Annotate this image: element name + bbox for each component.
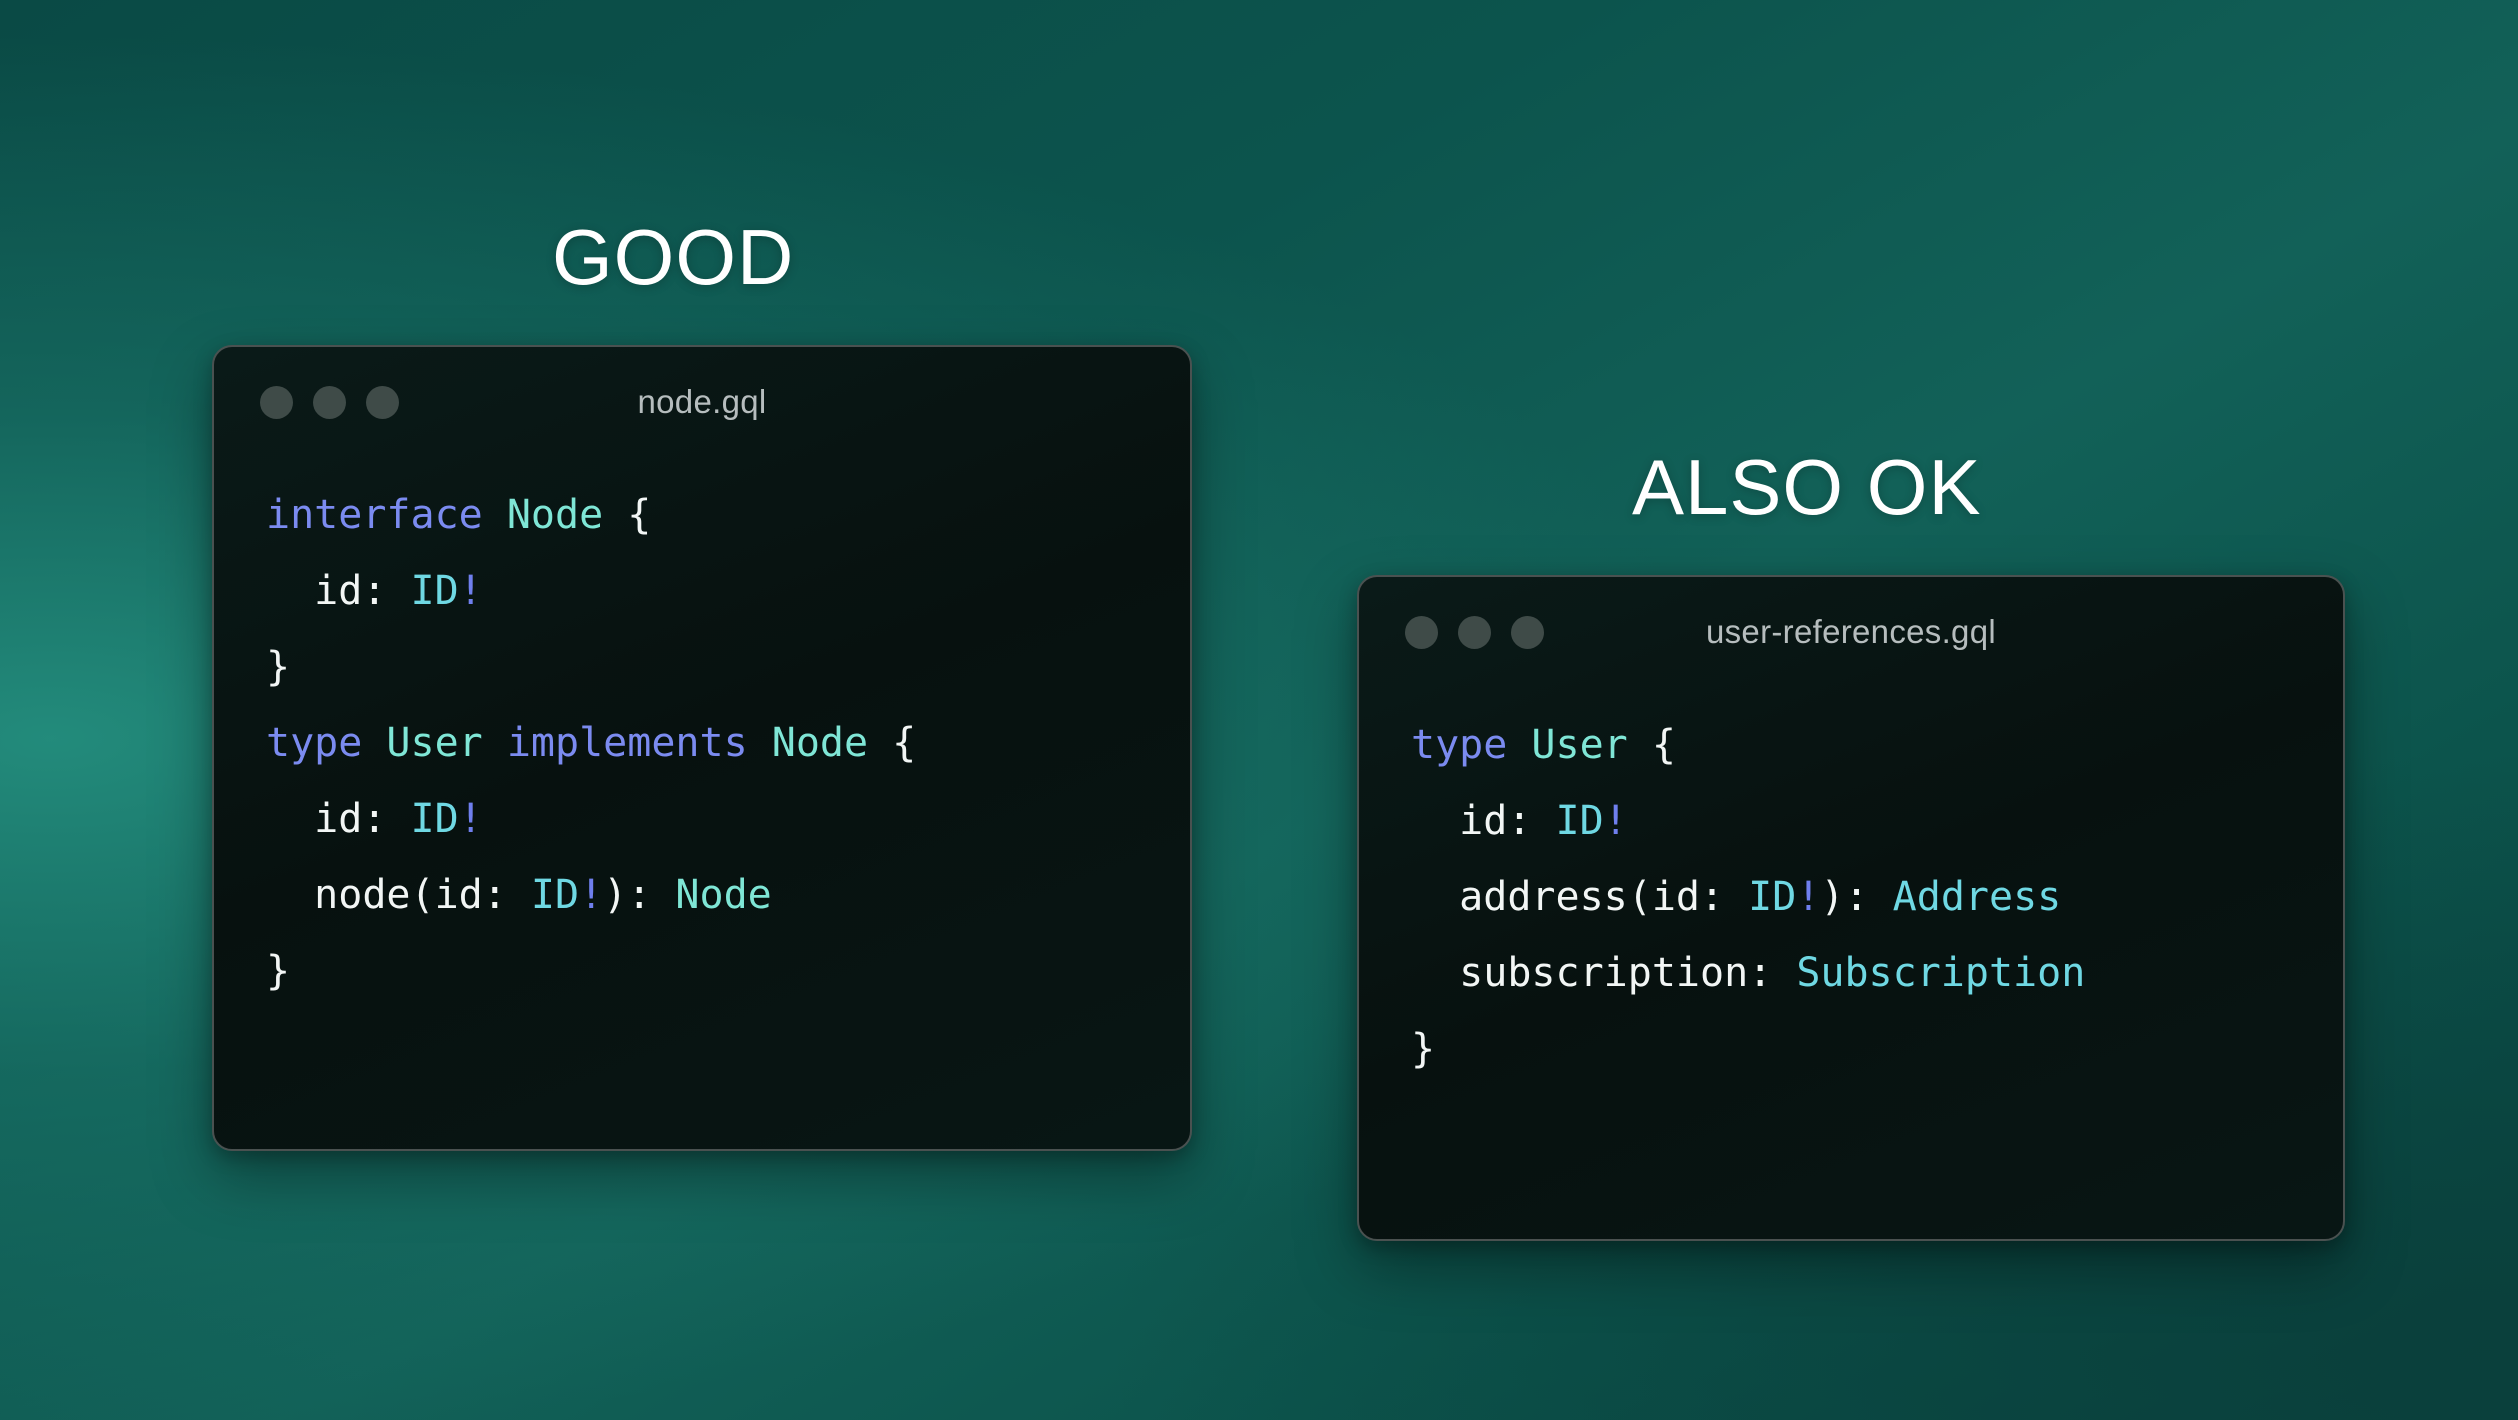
code-token: ID <box>531 872 579 918</box>
window-titlebar: user-references.gql <box>1359 577 2343 687</box>
code-line: type User { <box>1411 707 2343 783</box>
close-dot-icon[interactable] <box>1405 616 1438 649</box>
code-token: ID <box>411 568 459 614</box>
code-token: ID <box>1556 798 1604 844</box>
code-token: { <box>868 720 916 766</box>
code-token: implements <box>507 720 748 766</box>
panel-heading-good: GOOD <box>552 218 794 296</box>
code-line: interface Node { <box>266 477 1190 553</box>
code-line: address(id: ID!): Address <box>1411 859 2343 935</box>
code-token: subscription: <box>1411 950 1796 996</box>
code-window-good[interactable]: node.gql interface Node { id: ID!}type U… <box>212 345 1192 1151</box>
code-token: type <box>266 720 362 766</box>
code-token: : <box>1507 798 1555 844</box>
code-token: interface <box>266 492 483 538</box>
code-token: { <box>603 492 651 538</box>
code-token: node(id: <box>266 872 531 918</box>
code-line: } <box>266 933 1190 1009</box>
code-token <box>362 720 386 766</box>
code-line: id: ID! <box>266 553 1190 629</box>
code-token: ! <box>459 568 483 614</box>
code-token: : <box>362 796 410 842</box>
code-block-also-ok[interactable]: type User { id: ID! address(id: ID!): Ad… <box>1359 687 2343 1087</box>
code-token: : <box>362 568 410 614</box>
traffic-lights <box>260 386 399 419</box>
code-token: Node <box>675 872 771 918</box>
code-token: ! <box>459 796 483 842</box>
code-line: } <box>266 629 1190 705</box>
code-token: Address <box>1893 874 2062 920</box>
code-token: User <box>386 720 482 766</box>
code-token: Node <box>507 492 603 538</box>
code-line: subscription: Subscription <box>1411 935 2343 1011</box>
code-line: node(id: ID!): Node <box>266 857 1190 933</box>
slide-canvas: GOOD node.gql interface Node { id: ID!}t… <box>0 0 2518 1420</box>
code-line: id: ID! <box>1411 783 2343 859</box>
maximize-dot-icon[interactable] <box>366 386 399 419</box>
code-token: Node <box>772 720 868 766</box>
close-dot-icon[interactable] <box>260 386 293 419</box>
code-token: ! <box>579 872 603 918</box>
code-token: } <box>266 644 290 690</box>
code-token <box>748 720 772 766</box>
code-line: type User implements Node { <box>266 705 1190 781</box>
code-token: } <box>1411 1026 1435 1072</box>
code-token: ID <box>411 796 459 842</box>
code-block-good[interactable]: interface Node { id: ID!}type User imple… <box>214 457 1190 1009</box>
window-titlebar: node.gql <box>214 347 1190 457</box>
code-token: ): <box>603 872 675 918</box>
minimize-dot-icon[interactable] <box>1458 616 1491 649</box>
code-window-also-ok[interactable]: user-references.gql type User { id: ID! … <box>1357 575 2345 1241</box>
code-token: id <box>266 796 362 842</box>
maximize-dot-icon[interactable] <box>1511 616 1544 649</box>
code-line: } <box>1411 1011 2343 1087</box>
panel-heading-also-ok: ALSO OK <box>1632 448 1981 526</box>
code-token: } <box>266 948 290 994</box>
code-token: ! <box>1796 874 1820 920</box>
code-token: { <box>1628 722 1676 768</box>
code-token: type <box>1411 722 1507 768</box>
code-token <box>483 492 507 538</box>
code-token: id <box>266 568 362 614</box>
code-token: address(id: <box>1411 874 1748 920</box>
code-line: id: ID! <box>266 781 1190 857</box>
code-token: Subscription <box>1796 950 2085 996</box>
minimize-dot-icon[interactable] <box>313 386 346 419</box>
code-token: ! <box>1604 798 1628 844</box>
code-token: id <box>1411 798 1507 844</box>
code-token <box>483 720 507 766</box>
code-token <box>1507 722 1531 768</box>
traffic-lights <box>1405 616 1544 649</box>
code-token: User <box>1531 722 1627 768</box>
code-token: ): <box>1820 874 1892 920</box>
code-token: ID <box>1748 874 1796 920</box>
